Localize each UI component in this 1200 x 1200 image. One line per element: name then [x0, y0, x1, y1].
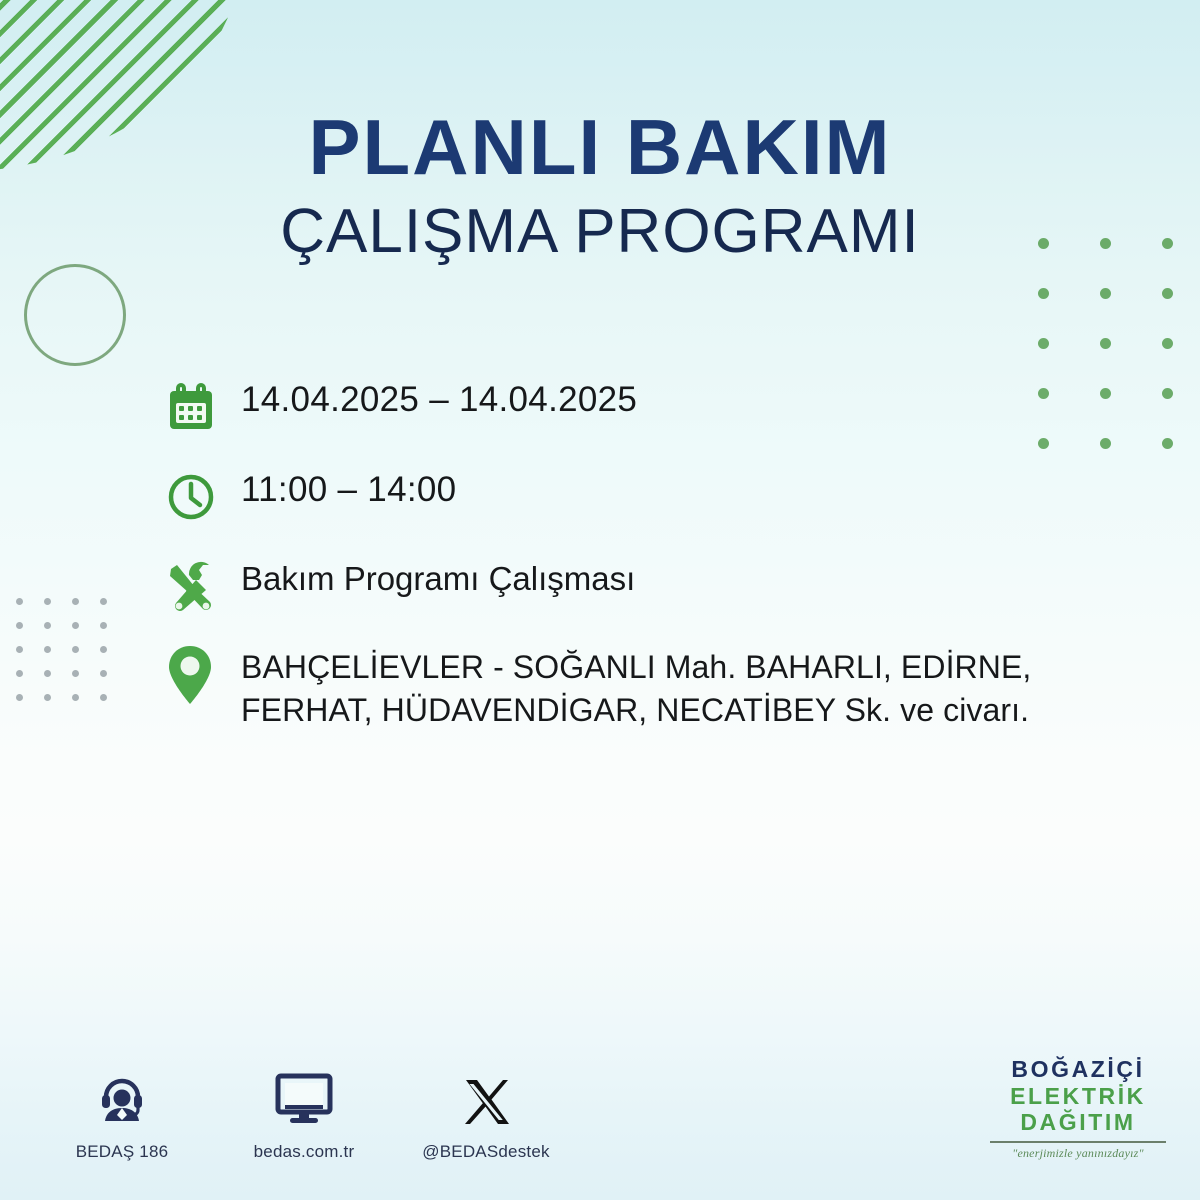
- planned-maintenance-poster: PLANLI BAKIM ÇALIŞMA PROGRAMI: [0, 0, 1200, 1200]
- support-headset-icon: [52, 1066, 192, 1128]
- brand-divider: [990, 1141, 1166, 1143]
- time-range-text: 11:00 – 14:00: [241, 462, 456, 513]
- poster-headline: PLANLI BAKIM ÇALIŞMA PROGRAMI: [0, 108, 1200, 267]
- brand-line-1: BOĞAZİÇİ: [984, 1056, 1172, 1083]
- contact-website[interactable]: bedas.com.tr: [234, 1066, 374, 1162]
- location-line-2: FERHAT, HÜDAVENDİGAR, NECATİBEY Sk. ve c…: [241, 689, 1031, 732]
- tools-icon: [165, 552, 241, 620]
- x-twitter-icon: [416, 1066, 556, 1128]
- dot-grid-left-decoration: [16, 598, 128, 718]
- location-text: BAHÇELİEVLER - SOĞANLI Mah. BAHARLI, EDİ…: [241, 640, 1031, 732]
- footer-contacts: BEDAŞ 186 bedas.com.tr @BEDASdestek: [52, 1066, 556, 1162]
- brand-line-2: ELEKTRİK: [984, 1083, 1172, 1110]
- contact-call-center-label: BEDAŞ 186: [52, 1142, 192, 1162]
- brand-logo: BOĞAZİÇİ ELEKTRİK DAĞITIM "enerjimizle y…: [984, 1056, 1172, 1161]
- contact-website-label: bedas.com.tr: [234, 1142, 374, 1162]
- contact-x-label: @BEDASdestek: [416, 1142, 556, 1162]
- detail-row-date: 14.04.2025 – 14.04.2025: [165, 372, 1165, 440]
- contact-call-center[interactable]: BEDAŞ 186: [52, 1066, 192, 1162]
- monitor-icon: [234, 1066, 374, 1128]
- work-type-text: Bakım Programı Çalışması: [241, 552, 635, 600]
- location-pin-icon: [165, 640, 241, 708]
- circle-outline-decoration: [24, 264, 126, 366]
- maintenance-details: 14.04.2025 – 14.04.2025 11:00 – 14:00: [165, 372, 1165, 750]
- date-range-text: 14.04.2025 – 14.04.2025: [241, 372, 637, 423]
- brand-line-3: DAĞITIM: [984, 1109, 1172, 1136]
- clock-icon: [165, 462, 241, 530]
- location-line-1: BAHÇELİEVLER - SOĞANLI Mah. BAHARLI, EDİ…: [241, 646, 1031, 689]
- page-title: PLANLI BAKIM: [0, 108, 1200, 186]
- page-subtitle: ÇALIŞMA PROGRAMI: [0, 196, 1200, 267]
- detail-row-time: 11:00 – 14:00: [165, 462, 1165, 530]
- contact-x-account[interactable]: @BEDASdestek: [416, 1066, 556, 1162]
- detail-row-location: BAHÇELİEVLER - SOĞANLI Mah. BAHARLI, EDİ…: [165, 640, 1165, 732]
- calendar-icon: [165, 372, 241, 440]
- detail-row-work-type: Bakım Programı Çalışması: [165, 552, 1165, 620]
- brand-tagline: "enerjimizle yanınızdayız": [984, 1146, 1172, 1161]
